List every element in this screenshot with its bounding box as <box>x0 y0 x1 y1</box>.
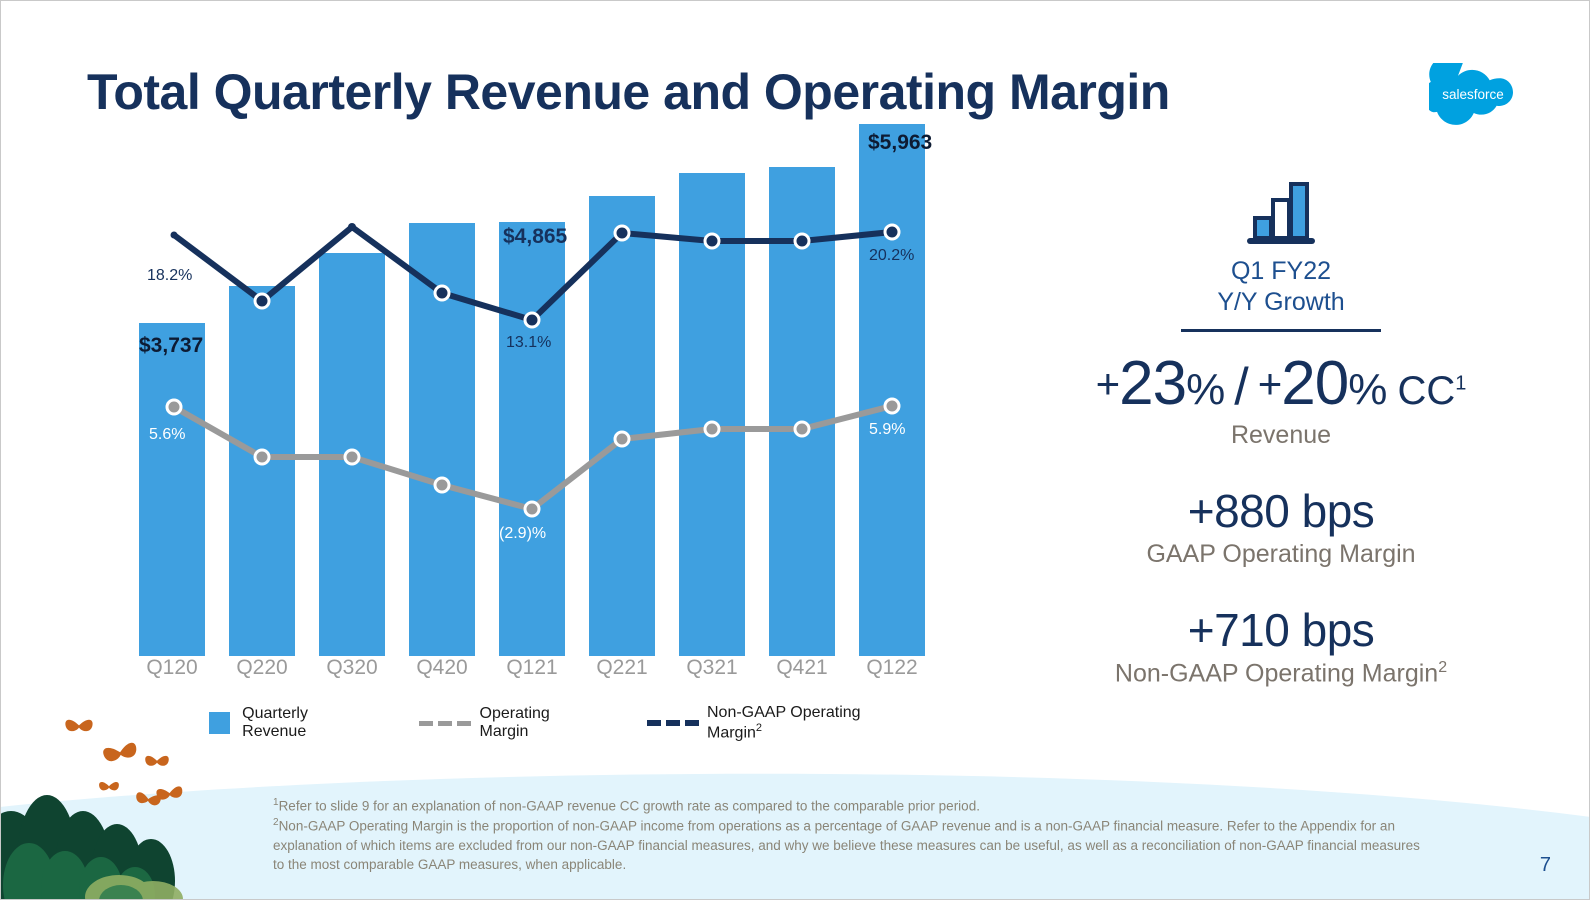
butterfly-icon <box>99 782 119 790</box>
growth-number-2: 20 <box>1281 349 1348 418</box>
point-label-non-gaap-q122: 20.2% <box>869 247 914 265</box>
point-label-operating-margin-q121: (2.9)% <box>499 525 546 543</box>
bar-q320 <box>319 253 385 656</box>
growth-percent-1: % <box>1186 365 1224 414</box>
salesforce-logo: salesforce <box>1429 63 1517 125</box>
bar-value-label-q121: $4,865 <box>503 225 567 249</box>
kpi-metric-caption-text: Non-GAAP Operating Margin <box>1115 659 1438 687</box>
point-label-operating-margin-q122: 5.9% <box>869 421 905 439</box>
kpi-growth-caption: Revenue <box>1041 421 1521 450</box>
growth-number-1: 23 <box>1119 349 1186 418</box>
bar-q120 <box>139 323 205 656</box>
point-label-non-gaap-q120: 18.2% <box>147 267 192 285</box>
page-number: 7 <box>1540 854 1551 877</box>
x-tick-q122: Q122 <box>859 656 925 680</box>
growth-plus-2: + <box>1258 360 1282 407</box>
x-tick-q120: Q120 <box>139 656 205 680</box>
kpi-metric-value-non-gaap: +710 bps <box>1041 603 1521 657</box>
footnote-2: 2Non-GAAP Operating Margin is the propor… <box>273 816 1433 875</box>
legend-label-operating-margin: Operating Margin <box>480 705 599 741</box>
chart-plot-area: $3,737 $4,865 $5,963 <box>131 121 961 656</box>
footnote-2-text: Non-GAAP Operating Margin is the proport… <box>273 818 1420 872</box>
point-label-operating-margin-q120: 5.6% <box>149 426 185 444</box>
x-tick-q321: Q321 <box>679 656 745 680</box>
point-label-non-gaap-q121: 13.1% <box>506 334 551 352</box>
butterfly-icon <box>102 742 138 763</box>
kpi-panel: Q1 FY22 Y/Y Growth +23%/+20% CC1 Revenue… <box>1041 176 1521 688</box>
footnotes: 1Refer to slide 9 for an explanation of … <box>273 796 1433 875</box>
kpi-metric-caption-non-gaap: Non-GAAP Operating Margin2 <box>1041 659 1521 688</box>
x-tick-q121: Q121 <box>499 656 565 680</box>
bar-chart-icon <box>1241 176 1321 248</box>
bar-q420 <box>409 223 475 656</box>
bar-value-label-q122: $5,963 <box>868 131 932 155</box>
growth-cc-label: CC1 <box>1386 369 1466 413</box>
legend-item-operating-margin: Operating Margin <box>419 705 646 741</box>
x-tick-q420: Q420 <box>409 656 475 680</box>
butterfly-icon <box>156 786 183 800</box>
kpi-heading-line1: Q1 FY22 <box>1041 256 1521 287</box>
bar-q221 <box>589 196 655 656</box>
revenue-chart: $3,737 $4,865 $5,963 <box>131 121 961 741</box>
growth-separator: / <box>1224 358 1257 416</box>
legend-label-non-gaap-operating-margin: Non-GAAP Operating Margin2 <box>707 704 913 742</box>
page-title: Total Quarterly Revenue and Operating Ma… <box>87 63 1170 121</box>
bar-q220 <box>229 286 295 656</box>
bar-q122 <box>859 124 925 656</box>
butterfly-icon <box>65 720 92 731</box>
chart-x-axis: Q120 Q220 Q320 Q420 Q121 Q221 Q321 Q421 … <box>131 656 961 696</box>
kpi-metric-caption-superscript: 2 <box>1438 659 1447 676</box>
footnote-1: 1Refer to slide 9 for an explanation of … <box>273 796 1433 816</box>
growth-cc-superscript: 1 <box>1455 372 1466 394</box>
growth-plus-1: + <box>1096 360 1120 407</box>
legend-label-text: Non-GAAP Operating Margin <box>707 704 861 741</box>
kpi-metric-caption-gaap: GAAP Operating Margin <box>1041 540 1521 569</box>
growth-percent-2: % <box>1348 365 1386 414</box>
kpi-heading: Q1 FY22 Y/Y Growth <box>1041 256 1521 319</box>
kpi-metric-value-gaap: +880 bps <box>1041 484 1521 538</box>
x-tick-q220: Q220 <box>229 656 295 680</box>
x-tick-q221: Q221 <box>589 656 655 680</box>
x-tick-q421: Q421 <box>769 656 835 680</box>
legend-item-non-gaap-operating-margin: Non-GAAP Operating Margin2 <box>647 704 961 742</box>
kpi-divider <box>1181 329 1381 332</box>
legend-superscript: 2 <box>756 722 762 734</box>
bar-value-label-q120: $3,737 <box>139 334 203 358</box>
x-tick-q320: Q320 <box>319 656 385 680</box>
slide-canvas: Total Quarterly Revenue and Operating Ma… <box>0 0 1590 900</box>
bar-q321 <box>679 173 745 656</box>
logo-wordmark: salesforce <box>1442 87 1504 102</box>
footnote-1-text: Refer to slide 9 for an explanation of n… <box>279 798 980 813</box>
butterflies-decoration <box>1 699 301 839</box>
butterfly-icon <box>145 756 169 766</box>
kpi-heading-line2: Y/Y Growth <box>1041 287 1521 318</box>
bar-q421 <box>769 167 835 656</box>
kpi-growth-value: +23%/+20% CC1 <box>1041 348 1521 419</box>
bar-q121 <box>499 222 565 656</box>
growth-cc-text: CC <box>1397 369 1455 413</box>
